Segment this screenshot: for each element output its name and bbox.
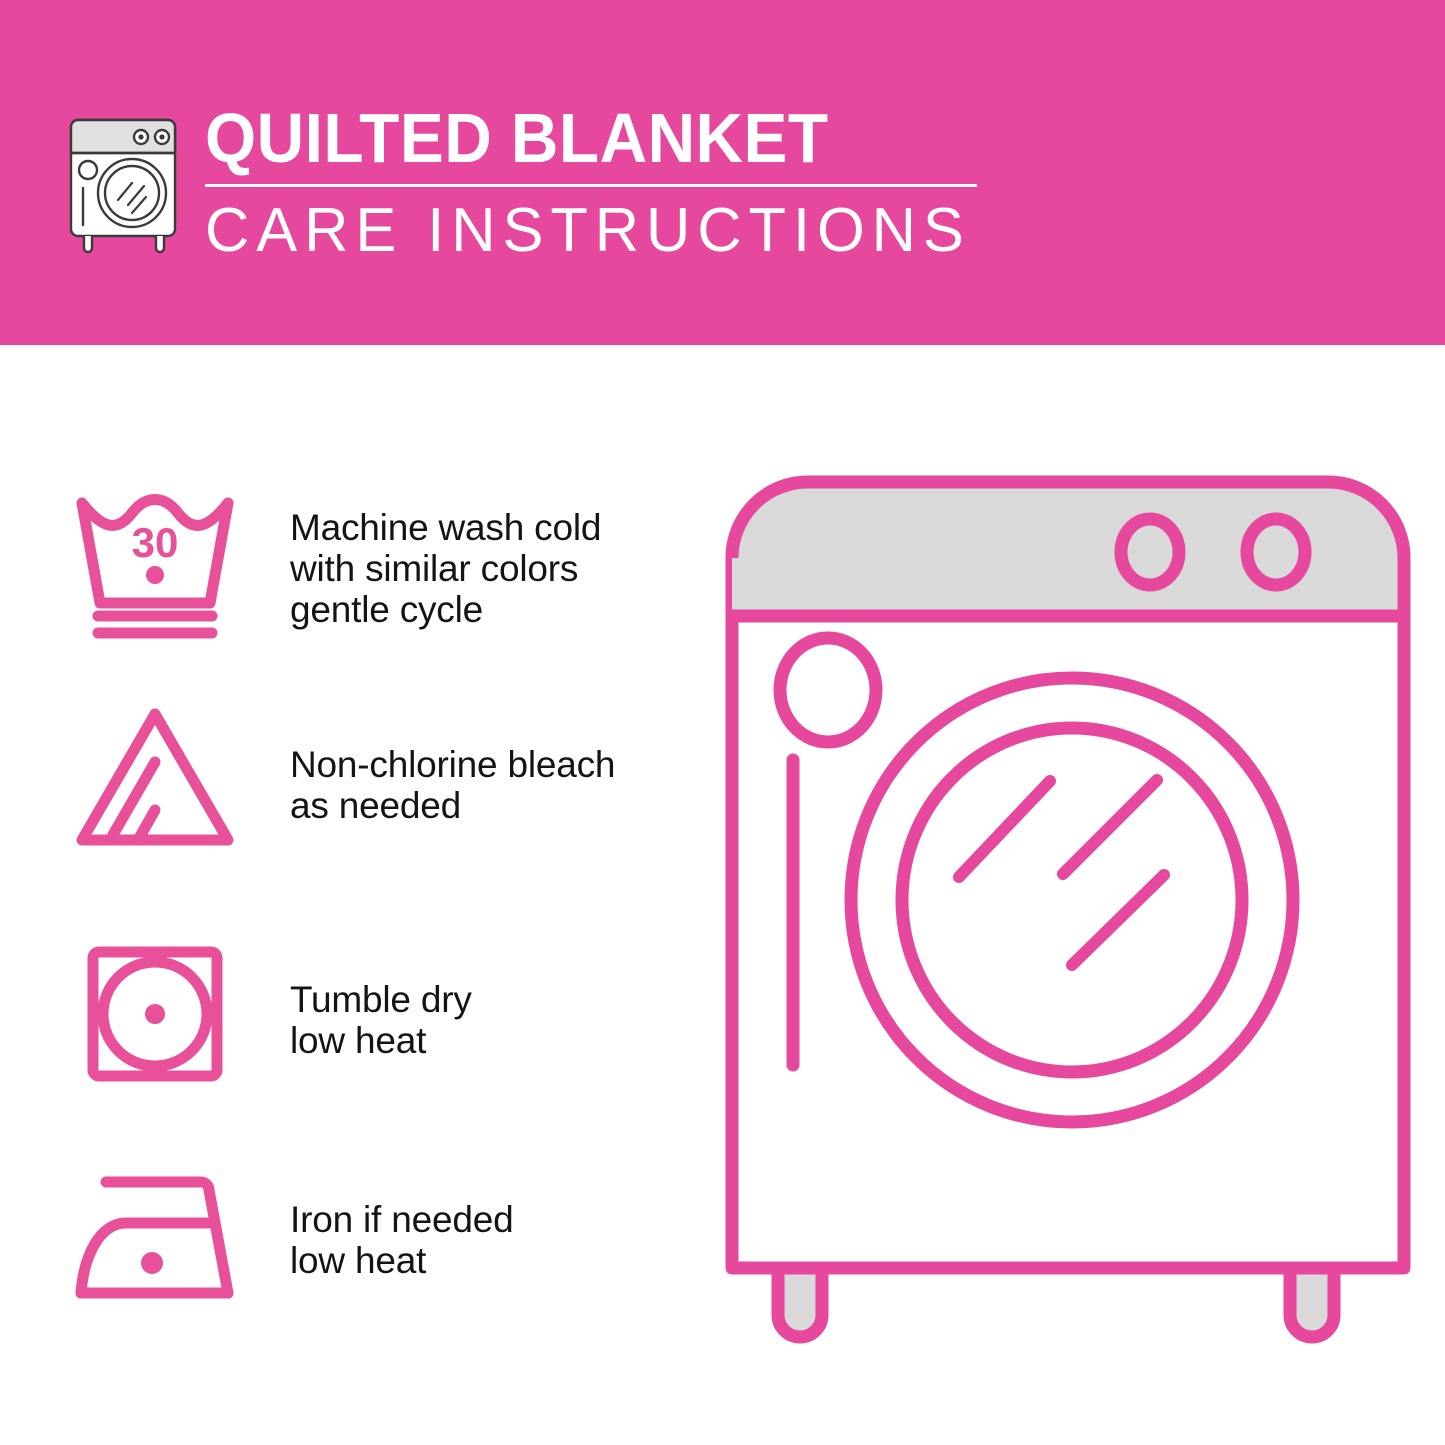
title-divider [205,184,977,187]
wash-temperature-value: 30 [132,519,179,566]
care-instruction-list: 30 Machine wash cold with similar colors… [0,345,700,1445]
care-line: gentle cycle [290,589,690,630]
care-line: Tumble dry [290,979,690,1020]
care-line: low heat [290,1020,690,1061]
care-line: low heat [290,1240,690,1281]
care-line: as needed [290,785,690,826]
wash-tub-30-icon: 30 [70,485,240,655]
care-text-bleach: Non-chlorine bleach as needed [290,744,690,826]
care-text-machine-wash: Machine wash cold with similar colors ge… [290,507,690,630]
care-line: Non-chlorine bleach [290,744,690,785]
tumble-dry-low-icon [86,945,224,1083]
care-instructions-page: QUILTED BLANKET CARE INSTRUCTIONS 30 [0,0,1445,1445]
bleach-triangle-icon [70,700,240,870]
header-text-block: QUILTED BLANKET CARE INSTRUCTIONS [205,100,995,265]
page-title: QUILTED BLANKET [205,100,948,176]
care-line: Machine wash cold [290,507,690,548]
iron-low-heat-icon [70,1165,245,1310]
care-line: with similar colors [290,548,690,589]
care-line: Iron if needed [290,1199,690,1240]
care-row-bleach: Non-chlorine bleach as needed [0,700,700,930]
page-subtitle: CARE INSTRUCTIONS [205,197,987,265]
care-row-tumble-dry: Tumble dry low heat [0,935,700,1165]
front-load-washing-machine-illustration [720,470,1440,1370]
care-text-tumble-dry: Tumble dry low heat [290,979,690,1061]
washing-machine-icon [62,103,190,255]
care-row-iron: Iron if needed low heat [0,1155,700,1385]
header-band: QUILTED BLANKET CARE INSTRUCTIONS [0,0,1445,345]
care-row-machine-wash: 30 Machine wash cold with similar colors… [0,485,700,715]
care-text-iron: Iron if needed low heat [290,1199,690,1281]
